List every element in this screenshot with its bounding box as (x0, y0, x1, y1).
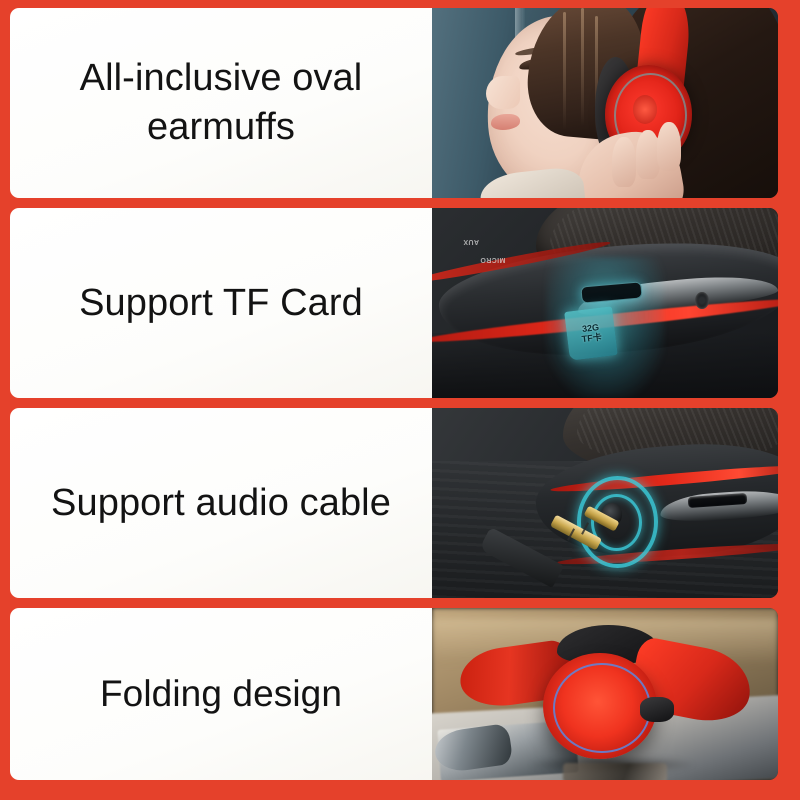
aux-button-label: AUX (463, 238, 479, 245)
tf-card-slot-photo: 32G TF卡 AUX MICRO (432, 208, 778, 398)
girl-wearing-red-headphones-photo (432, 8, 778, 198)
feature-row-folding-design: Folding design (0, 608, 800, 780)
feature-row-tf-card: Support TF Card 32G TF卡 AUX MICRO (0, 208, 800, 398)
feature-row-oval-earmuffs: All-inclusive oval earmuffs (0, 8, 800, 198)
feature-label: Support TF Card (61, 279, 381, 328)
nose (486, 76, 521, 108)
feature-row-audio-cable: Support audio cable (0, 408, 800, 598)
photo-scene (432, 8, 778, 198)
photo-scene (432, 608, 778, 780)
feature-text-card: All-inclusive oval earmuffs (10, 8, 432, 198)
photo-scene: 32G TF卡 AUX MICRO (432, 208, 778, 398)
feature-label: Folding design (82, 670, 360, 717)
audio-jack-photo (432, 408, 778, 598)
foreground-object (563, 763, 667, 780)
earcup-accent-ring (553, 663, 650, 753)
feature-text-card: Support audio cable (10, 408, 432, 598)
tf-card-type: TF卡 (581, 333, 602, 344)
photo-scene (432, 408, 778, 598)
earcup-center (633, 95, 657, 124)
folded-headphones-photo (432, 608, 778, 780)
feature-label: Support audio cable (33, 479, 409, 528)
feature-label: All-inclusive oval earmuffs (21, 54, 421, 151)
finger (657, 122, 681, 171)
feature-text-card: Support TF Card (10, 208, 432, 398)
micro-button-label: MICRO (480, 256, 505, 263)
headphone-hinge (640, 697, 675, 721)
feature-text-card: Folding design (10, 608, 432, 780)
tf-memory-card: 32G TF卡 (564, 306, 618, 361)
jack-port (695, 292, 709, 309)
finger (612, 137, 636, 186)
hair-strand (581, 8, 584, 126)
product-feature-poster: All-inclusive oval earmuffs (0, 0, 800, 800)
